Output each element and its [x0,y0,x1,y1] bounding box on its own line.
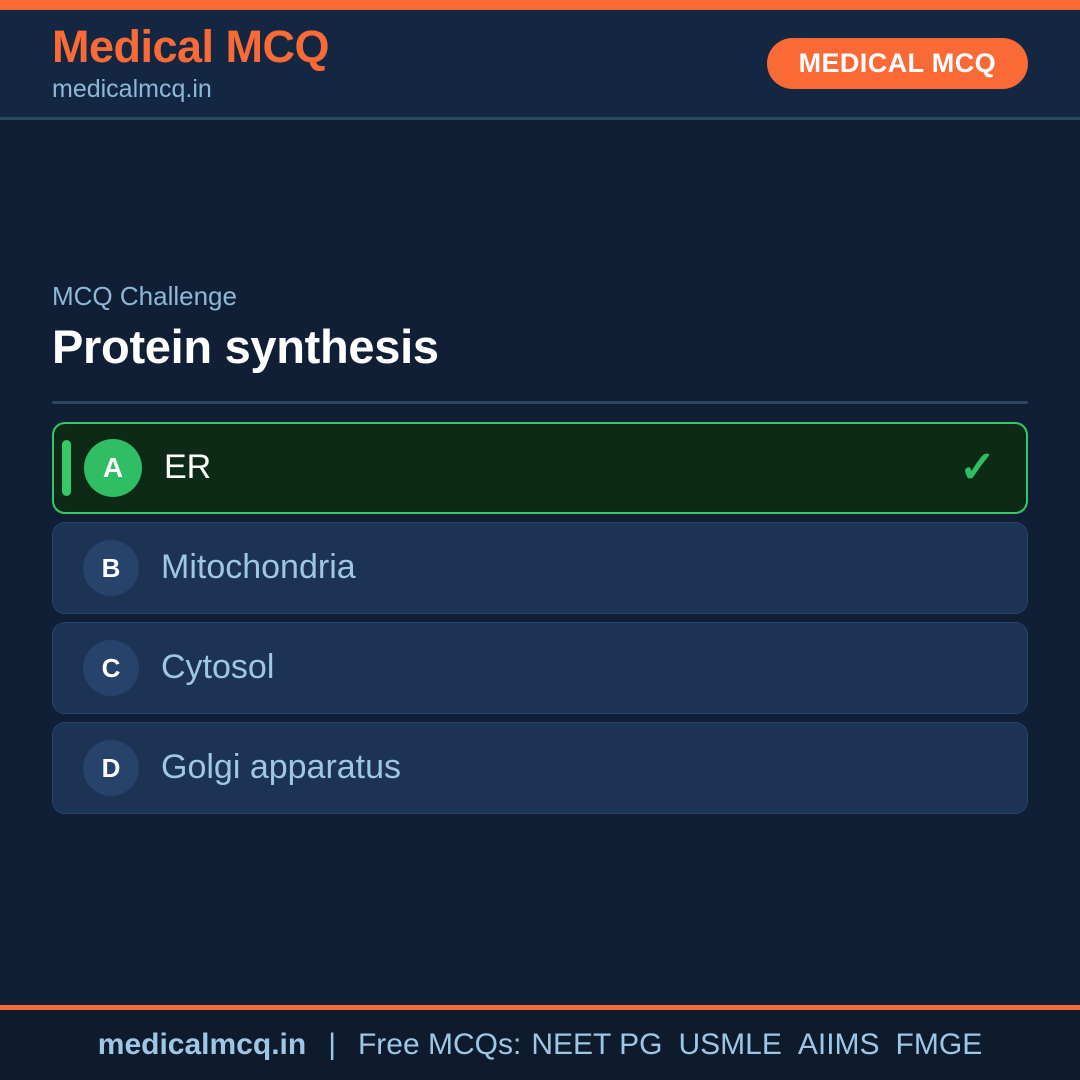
footer-separator: | [328,1028,336,1062]
correct-accent-bar [62,440,71,496]
brand-block: Medical MCQ medicalmcq.in [52,23,329,104]
option-letter-badge: B [83,540,139,596]
footer-site: medicalmcq.in [98,1028,306,1062]
footer-exam-item: USMLE [679,1028,782,1062]
eyebrow-label: MCQ Challenge [52,281,1028,312]
option-c[interactable]: C Cytosol [52,622,1028,714]
option-letter-badge: D [83,740,139,796]
header-badge: MEDICAL MCQ [767,38,1028,89]
option-label: Cytosol [161,649,997,686]
option-b[interactable]: B Mitochondria [52,522,1028,614]
option-a[interactable]: A ER ✓ [52,422,1028,514]
page-title: Protein synthesis [52,320,1028,374]
page-header: Medical MCQ medicalmcq.in MEDICAL MCQ [0,10,1080,120]
brand-title: Medical MCQ [52,23,329,71]
title-divider [52,401,1028,404]
option-letter-badge: C [83,640,139,696]
mcq-card: Medical MCQ medicalmcq.in MEDICAL MCQ MC… [0,0,1080,1080]
main-content: MCQ Challenge Protein synthesis A ER ✓ B… [0,120,1080,1005]
question-block: MCQ Challenge Protein synthesis A ER ✓ B… [52,281,1028,814]
option-letter-badge: A [84,439,142,497]
option-label: Golgi apparatus [161,749,997,786]
footer-exam-item: AIIMS [798,1028,880,1062]
options-list: A ER ✓ B Mitochondria C Cytosol D Golgi … [52,422,1028,814]
footer-label: Free MCQs: [358,1028,521,1062]
page-footer: medicalmcq.in | Free MCQs: NEET PG USMLE… [0,1010,1080,1080]
option-d[interactable]: D Golgi apparatus [52,722,1028,814]
brand-subtitle: medicalmcq.in [52,74,329,104]
footer-exam-item: FMGE [896,1028,983,1062]
top-accent-bar [0,0,1080,10]
check-icon: ✓ [959,446,996,490]
footer-exam-list: NEET PG USMLE AIIMS FMGE [531,1028,982,1062]
option-label: ER [164,449,959,486]
option-label: Mitochondria [161,549,997,586]
footer-exam-item: NEET PG [531,1028,662,1062]
